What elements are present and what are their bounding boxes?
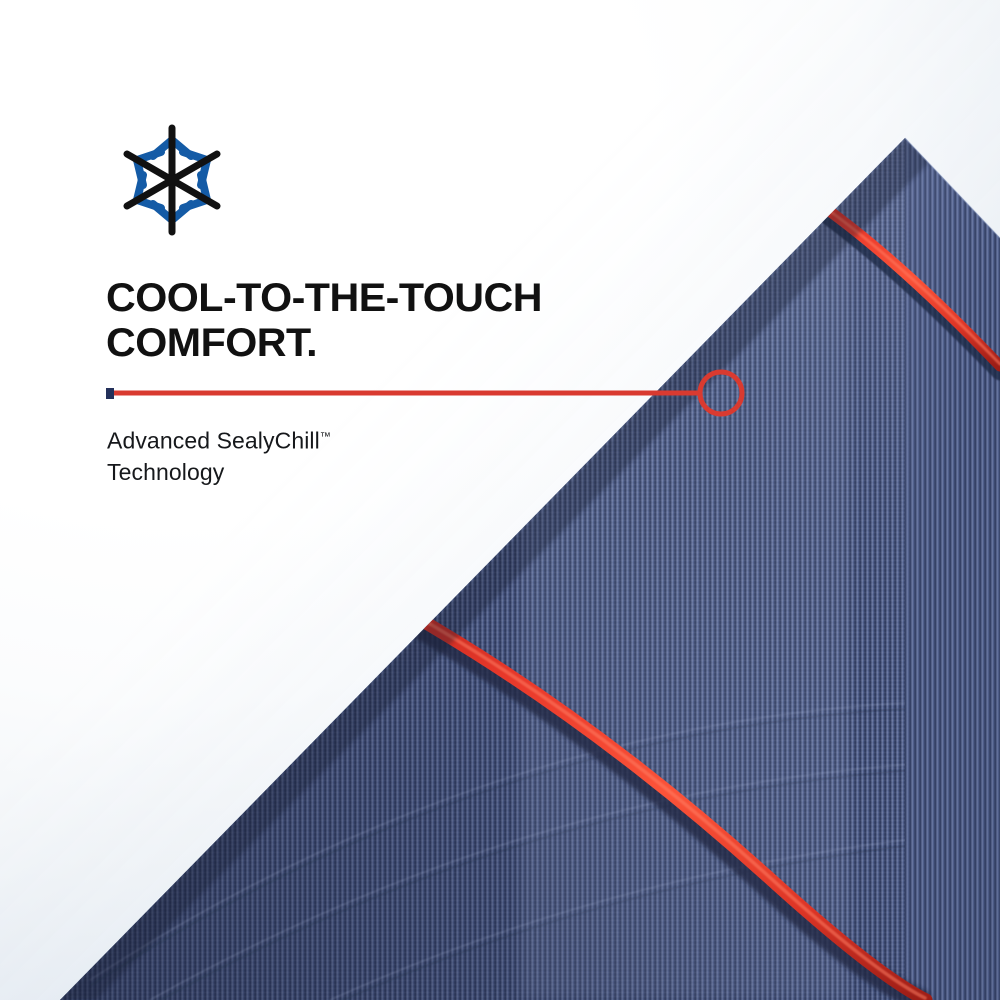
marketing-hero-image: COOL-TO-THE-TOUCH COMFORT. Advanced Seal…	[0, 0, 1000, 1000]
subheading-product-name: Advanced SealyChill	[107, 428, 320, 454]
snowflake-icon	[104, 112, 240, 248]
copy-block: COOL-TO-THE-TOUCH COMFORT. Advanced Seal…	[0, 0, 560, 560]
page-title: COOL-TO-THE-TOUCH COMFORT.	[106, 276, 590, 366]
subheading-line2: Technology	[107, 459, 224, 485]
subheading: Advanced SealyChill™ Technology	[107, 422, 467, 488]
trademark-symbol: ™	[320, 431, 331, 443]
